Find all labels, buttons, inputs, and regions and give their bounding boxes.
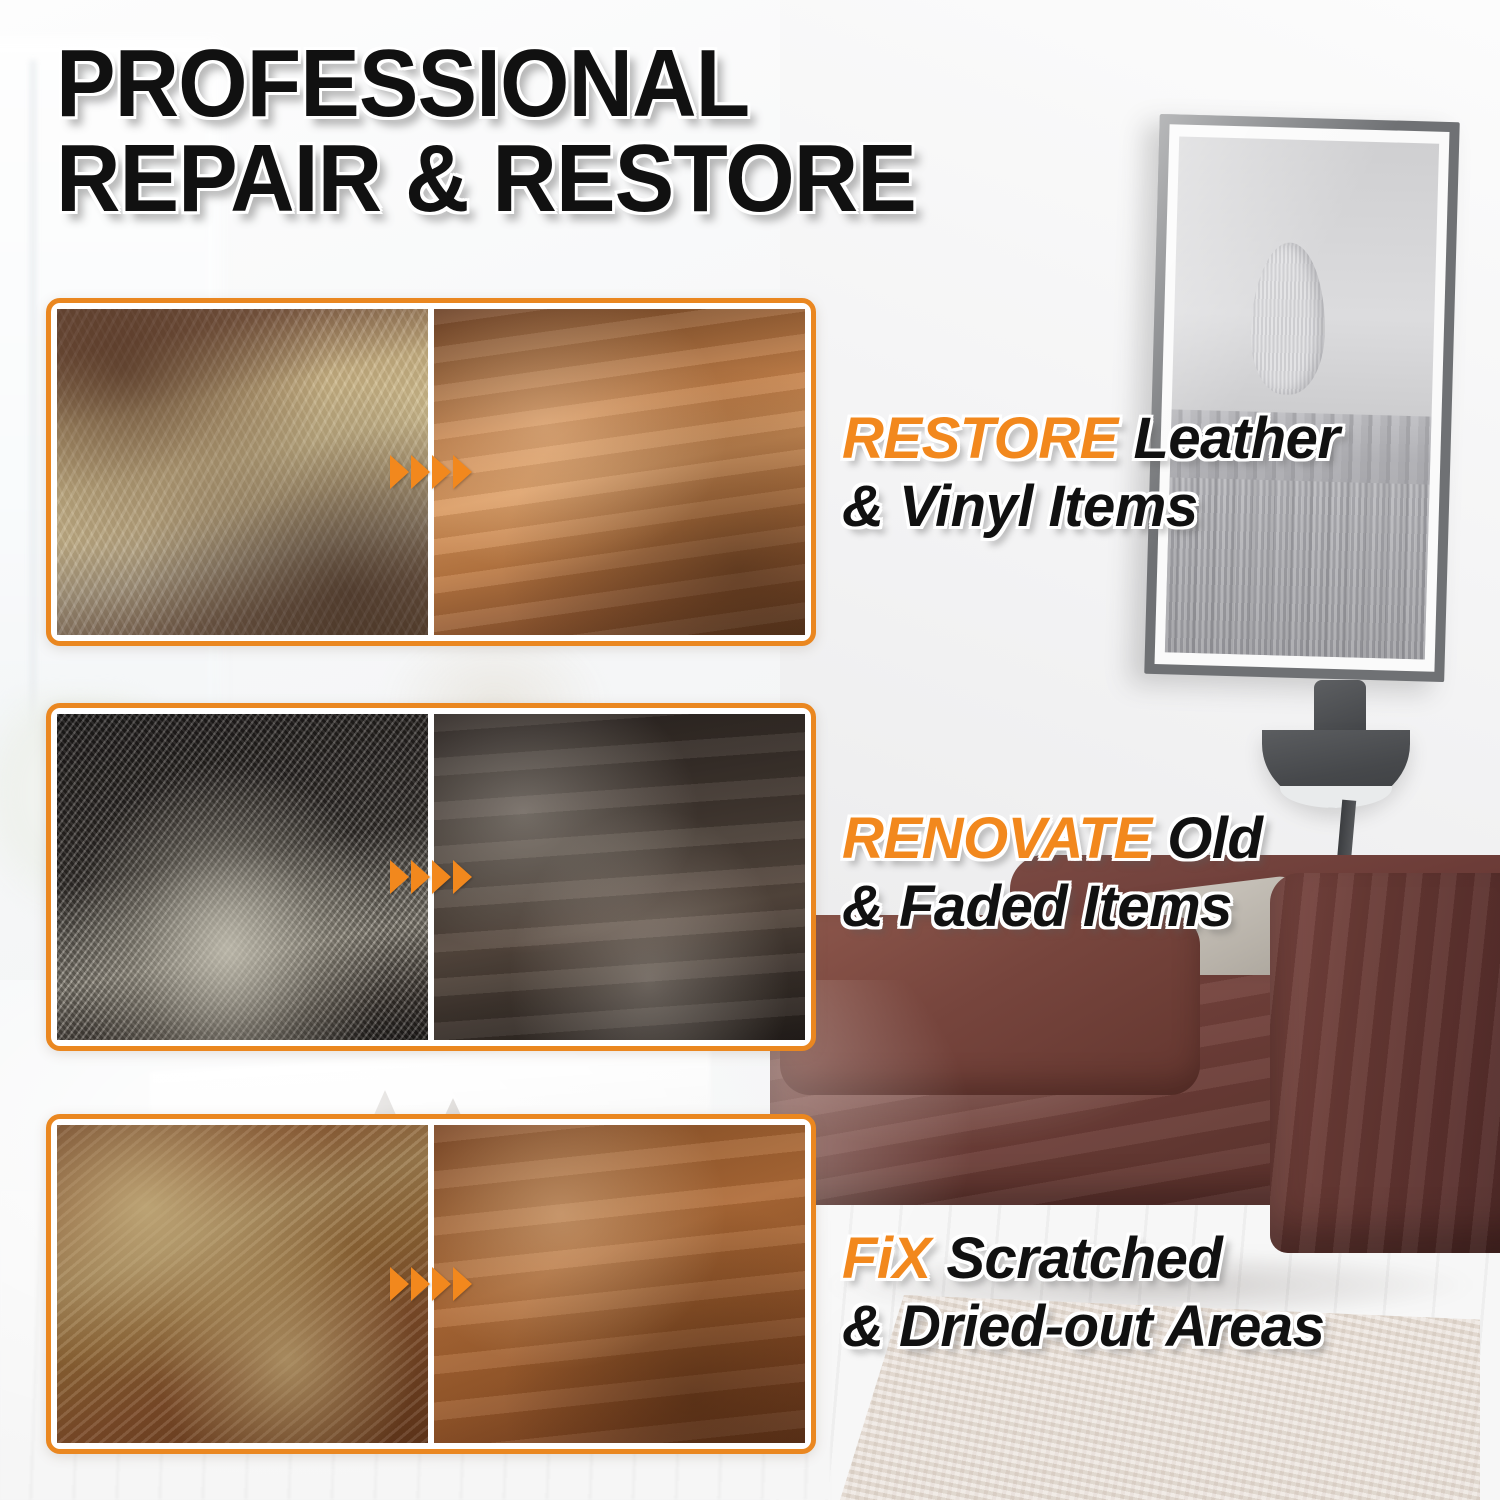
headline: PROFESSIONAL REPAIR & RESTORE	[56, 36, 1176, 226]
callout-renovate: RENOVATE Old & Faded Items	[842, 805, 1500, 941]
headline-line-2: REPAIR & RESTORE	[56, 131, 1098, 226]
callout-restore: RESTORE Leather & Vinyl Items	[842, 405, 1500, 541]
renovate-faded-panel	[46, 703, 816, 1051]
after-photo	[434, 309, 805, 635]
before-after-pair	[57, 1125, 805, 1443]
callout-fix: FiX Scratched & Dried-out Areas	[842, 1225, 1500, 1361]
callout-rest-word: Leather	[1118, 406, 1340, 471]
callout-accent-word: RESTORE	[842, 406, 1118, 471]
ad-image: PROFESSIONAL REPAIR & RESTORE	[0, 0, 1500, 1500]
poster-glass-reflection	[1144, 114, 1460, 682]
callout-rest-word: Scratched	[931, 1226, 1223, 1291]
after-photo	[434, 714, 805, 1040]
callout-line-1: FiX Scratched	[842, 1225, 1500, 1293]
callout-rest-word: Old	[1152, 806, 1263, 871]
callout-line-1: RENOVATE Old	[842, 805, 1500, 873]
before-after-pair	[57, 714, 805, 1040]
restore-leather-panel	[46, 298, 816, 646]
fix-scratched-panel	[46, 1114, 816, 1454]
window-frame	[30, 60, 36, 760]
before-after-pair	[57, 309, 805, 635]
before-photo	[57, 714, 428, 1040]
callout-line-2: & Dried-out Areas	[842, 1293, 1500, 1361]
callout-accent-word: RENOVATE	[842, 806, 1152, 871]
callout-line-2: & Faded Items	[842, 873, 1500, 941]
callout-accent-word: FiX	[842, 1226, 931, 1291]
framed-poster	[1144, 114, 1460, 682]
headline-line-1: PROFESSIONAL	[56, 36, 1098, 131]
before-photo	[57, 1125, 428, 1443]
after-photo	[434, 1125, 805, 1443]
callout-line-2: & Vinyl Items	[842, 473, 1500, 541]
before-photo	[57, 309, 428, 635]
callout-line-1: RESTORE Leather	[842, 405, 1500, 473]
lamp-cap	[1314, 680, 1366, 736]
